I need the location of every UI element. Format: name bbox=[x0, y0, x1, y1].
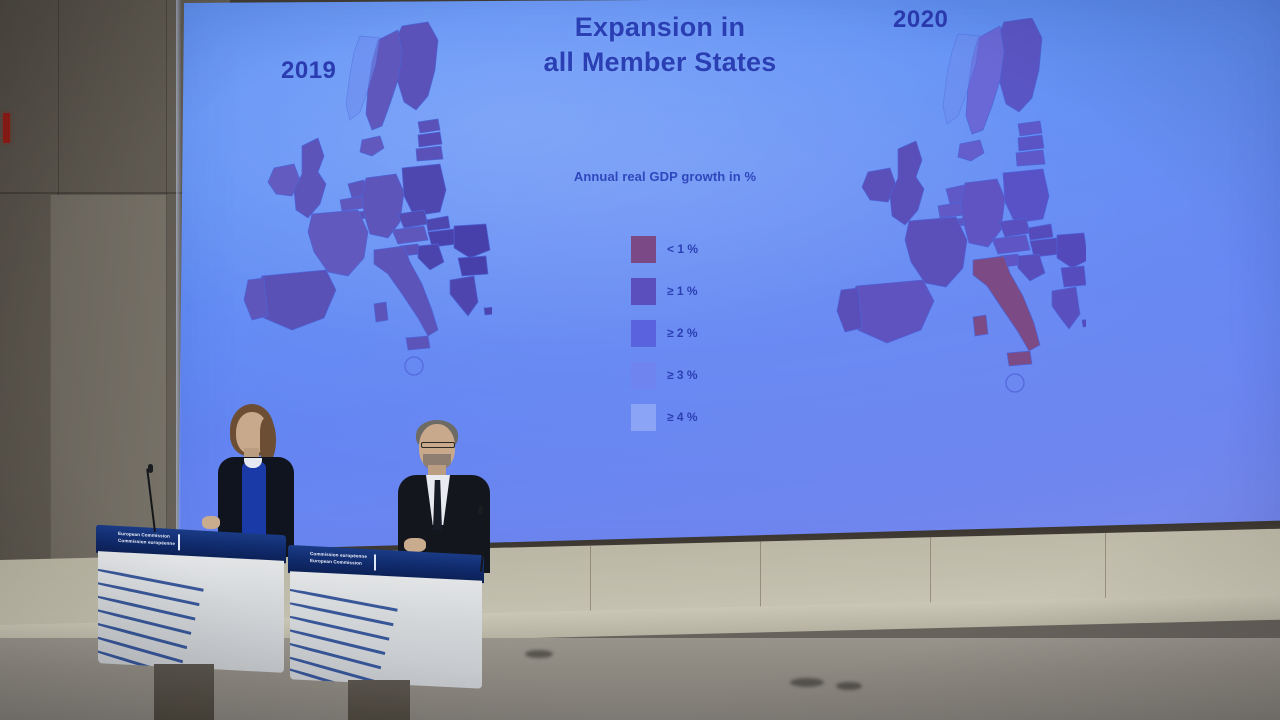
legend-item: ≥ 2 % bbox=[631, 312, 698, 354]
microphone-head bbox=[478, 506, 483, 515]
legend-label: < 1 % bbox=[667, 242, 698, 256]
legend-swatch-icon bbox=[631, 320, 656, 347]
podium-right: Commission européenne European Commissio… bbox=[288, 550, 484, 720]
legend-item: ≥ 4 % bbox=[631, 396, 698, 438]
podium-left: European Commission Commission européenn… bbox=[96, 530, 286, 720]
speaker-right bbox=[390, 420, 505, 570]
legend-title: Annual real GDP growth in % bbox=[540, 169, 790, 184]
legend-swatch-icon bbox=[631, 362, 656, 389]
map-2020 bbox=[826, 18, 1086, 448]
legend-item: ≥ 3 % bbox=[631, 354, 698, 396]
legend-label: ≥ 4 % bbox=[667, 410, 698, 424]
podium-body bbox=[290, 571, 482, 688]
legend-swatch-icon bbox=[631, 278, 656, 305]
banner-divider bbox=[178, 534, 180, 550]
exit-sign-icon bbox=[3, 113, 10, 143]
legend-item: < 1 % bbox=[631, 228, 698, 270]
podium-stripes bbox=[290, 589, 410, 689]
slide-title-line-2: all Member States bbox=[470, 45, 850, 80]
screen-left-edge bbox=[176, 0, 181, 578]
slide-title-line-1: Expansion in bbox=[470, 10, 850, 45]
legend-swatch-icon bbox=[631, 404, 656, 431]
microphone-head bbox=[148, 464, 153, 473]
legend-label: ≥ 1 % bbox=[667, 284, 698, 298]
podium-leg bbox=[154, 664, 214, 720]
legend-label: ≥ 2 % bbox=[667, 326, 698, 340]
wall-seam bbox=[58, 0, 59, 196]
legend-swatch-icon bbox=[631, 236, 656, 263]
banner-divider bbox=[374, 554, 376, 570]
glasses-icon bbox=[421, 442, 455, 448]
podium-banner-text: European Commission Commission européenn… bbox=[118, 530, 175, 547]
hair-side bbox=[260, 418, 276, 462]
screenshot-stage: Expansion in all Member States 2019 2020 bbox=[0, 0, 1280, 720]
podium-banner-text: Commission européenne European Commissio… bbox=[310, 550, 367, 567]
podium-body bbox=[98, 551, 284, 673]
podium-stripes bbox=[98, 569, 218, 673]
slide-title: Expansion in all Member States bbox=[470, 10, 850, 79]
hand bbox=[202, 516, 220, 529]
legend-label: ≥ 3 % bbox=[667, 368, 698, 382]
map-legend: < 1 % ≥ 1 % ≥ 2 % ≥ 3 % ≥ 4 % bbox=[631, 228, 698, 438]
map-2019 bbox=[232, 18, 492, 433]
legend-item: ≥ 1 % bbox=[631, 270, 698, 312]
podium-leg bbox=[348, 680, 410, 720]
